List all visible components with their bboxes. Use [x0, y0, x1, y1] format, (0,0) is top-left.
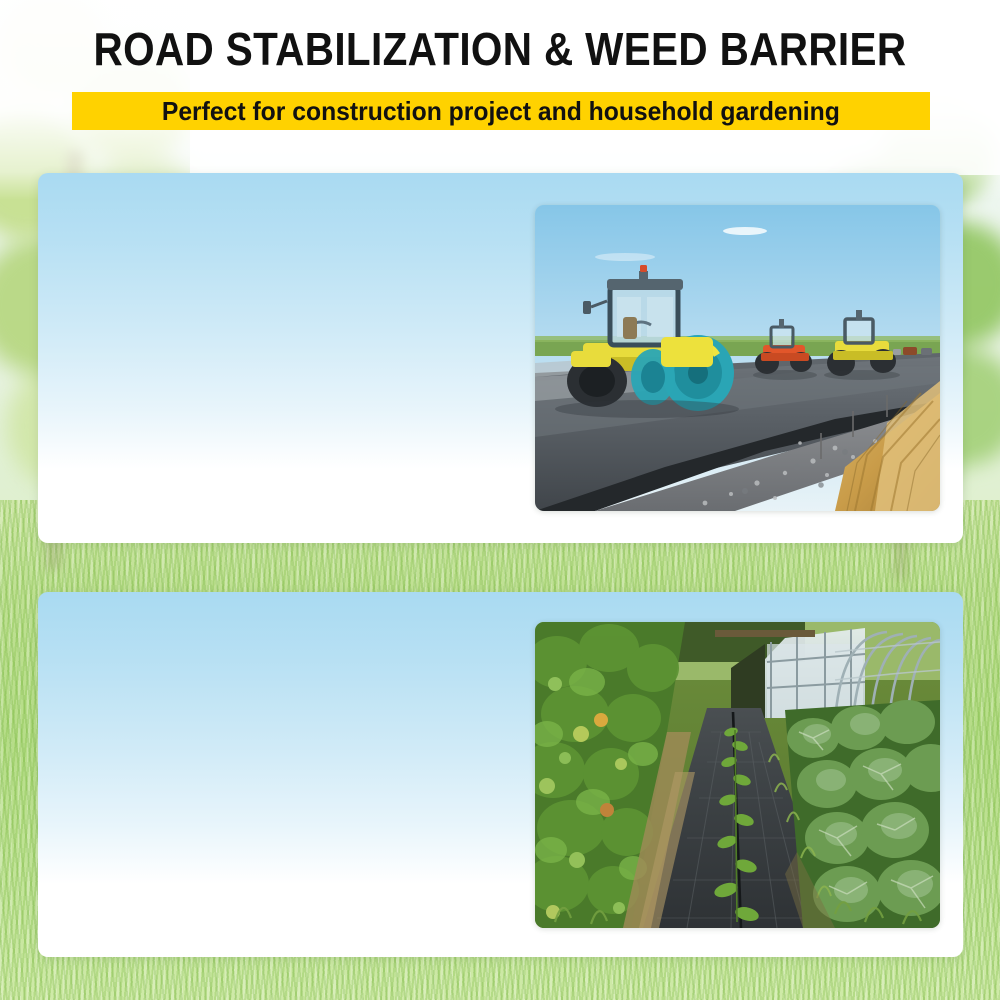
weed-barrier-garden-photo: [535, 622, 940, 928]
road-construction-photo: [535, 205, 940, 511]
subtitle-banner: Perfect for construction project and hou…: [72, 92, 930, 130]
card-text-area: [38, 592, 518, 957]
header: ROAD STABILIZATION & WEED BARRIER Perfec…: [0, 0, 1000, 72]
page-title: ROAD STABILIZATION & WEED BARRIER: [60, 26, 940, 72]
subtitle-text: Perfect for construction project and hou…: [162, 98, 840, 124]
card-text-area: [38, 173, 518, 543]
